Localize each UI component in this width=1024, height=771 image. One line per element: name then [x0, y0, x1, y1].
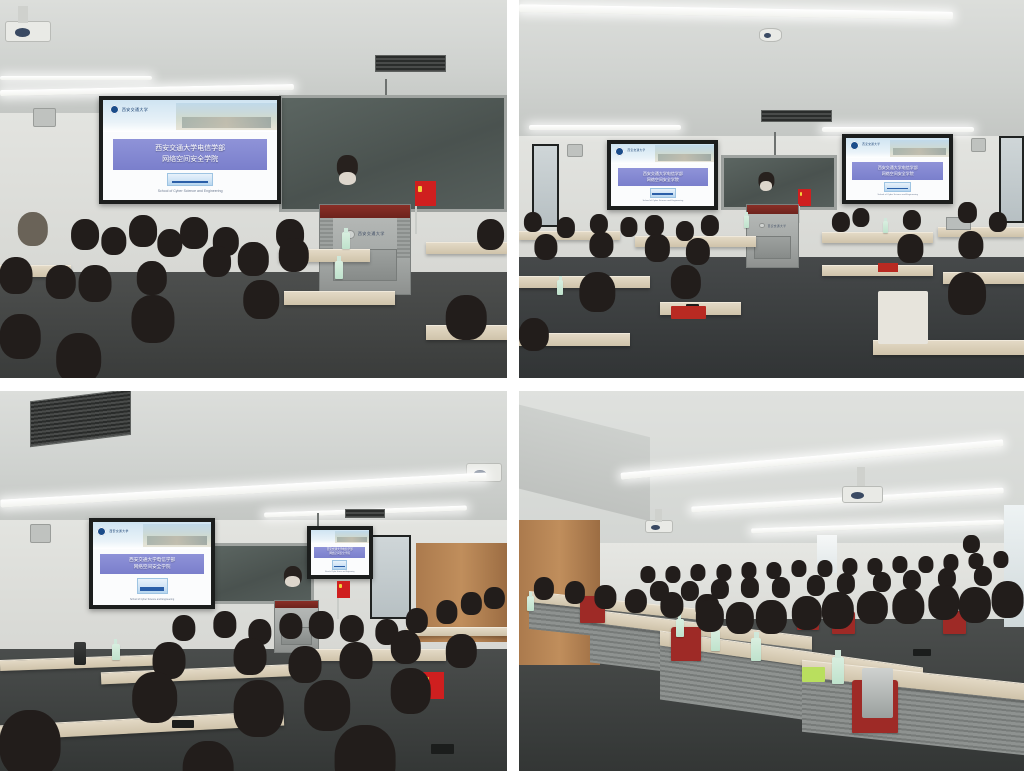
slide-footer: School of Cyber Science and Engineering: [846, 194, 949, 200]
campus-photo: [335, 531, 369, 543]
slide-footer: School of Cyber Science and Engineering: [103, 189, 278, 200]
red-folder: [878, 263, 898, 272]
chinese-flag: [798, 189, 811, 206]
photo-bottom-right: [519, 391, 1024, 771]
presentation-slide: 西安交通大学电信学部 网络空间安全学院 School of Cyber Scie…: [311, 530, 369, 575]
campus-photo: [655, 145, 715, 162]
projector-icon: [842, 486, 882, 503]
chinese-flag: [415, 181, 436, 206]
university-logo: 西安交通大学: [850, 141, 880, 150]
campus-photo: [890, 140, 950, 157]
slide-title: 西安交通大学电信学部 网络空间安全学院: [618, 168, 709, 186]
slide-footer: School of Cyber Science and Engineering: [611, 200, 714, 206]
smartphone: [913, 649, 931, 656]
presentation-slide: 西安交通大学 西安交通大学电信学部 网络空间安全学院 School of Cyb…: [611, 144, 714, 206]
red-folder: [671, 306, 706, 319]
slide-title: 西安交通大学电信学部 网络空间安全学院: [113, 139, 267, 170]
thermos-flask: [74, 642, 86, 665]
slide-cover-image: [137, 578, 168, 595]
ceiling-strip-light: [0, 76, 152, 81]
blackboard: [279, 95, 507, 212]
water-bottle: [527, 596, 534, 611]
water-bottle: [557, 280, 564, 295]
ceiling-strip-light: [529, 125, 681, 130]
slide-logo-wordmark: 西安交通大学: [109, 530, 128, 533]
water-bottle: [335, 261, 344, 279]
photo-collage: 西安交通大学 西安交通大学电信学部 网络空间安全学院 School of Cyb…: [0, 0, 1024, 771]
photo-top-right: 西安交通大学 西安交通大学电信学部 网络空间安全学院 School of Cyb…: [519, 0, 1024, 378]
projector-mount: [18, 6, 28, 23]
tote-bag: [878, 291, 929, 344]
slide-cover-image: [332, 560, 347, 570]
slide-cover-image: [650, 188, 677, 198]
thermos-flask: [862, 668, 892, 717]
ceiling-vent: [761, 110, 832, 122]
university-logo: 西安交通大学: [615, 147, 645, 156]
slide-title: 西安交通大学电信学部 网络空间安全学院: [314, 547, 365, 558]
slide-cover-image: [167, 173, 212, 186]
water-bottle: [711, 630, 720, 651]
water-bottle: [676, 619, 684, 637]
podium-crest-text: 西安交通大学: [358, 231, 385, 237]
projector-icon: [645, 520, 673, 533]
student-desk: [284, 291, 396, 305]
projection-screen: 西安交通大学 西安交通大学电信学部 网络空间安全学院 School of Cyb…: [607, 140, 718, 210]
water-bottle: [883, 221, 889, 233]
blackboard: [721, 155, 837, 210]
water-bottle: [744, 215, 750, 227]
ceiling-vent: [345, 509, 386, 518]
slide-logo-wordmark: 西安交通大学: [627, 150, 645, 153]
projector-mount: [655, 509, 662, 522]
projection-screen: 西安交通大学电信学部 网络空间安全学院 School of Cyber Scie…: [307, 526, 373, 579]
wall-speaker: [567, 144, 583, 158]
projection-screen: 西安交通大学 西安交通大学电信学部 网络空间安全学院 School of Cyb…: [842, 134, 953, 204]
water-bottle: [832, 657, 844, 684]
slide-cover-image: [884, 182, 911, 192]
chinese-flag: [337, 581, 350, 598]
university-seal-icon: [615, 147, 624, 156]
university-seal-icon: [850, 141, 859, 150]
campus-photo: [176, 103, 277, 130]
photo-top-left: 西安交通大学 西安交通大学电信学部 网络空间安全学院 School of Cyb…: [0, 0, 507, 378]
podium-crest-text: 西安交通大学: [768, 224, 787, 228]
snack-box: [802, 667, 825, 682]
projector-icon: [759, 28, 782, 41]
slide-title: 西安交通大学电信学部 网络空间安全学院: [100, 554, 205, 574]
door: [370, 535, 411, 619]
university-seal-icon: [97, 527, 106, 536]
projection-screen: 西安交通大学 西安交通大学电信学部 网络空间安全学院 School of Cyb…: [99, 96, 282, 204]
speaker-face: [760, 181, 772, 190]
slide-logo-wordmark: 西安交通大学: [862, 144, 880, 147]
presentation-slide: 西安交通大学 西安交通大学电信学部 网络空间安全学院 School of Cyb…: [846, 138, 949, 200]
campus-photo: [143, 524, 212, 547]
wall-speaker: [30, 524, 50, 543]
ceiling-vent: [375, 55, 446, 72]
projector-mount: [857, 467, 865, 486]
door: [999, 136, 1024, 223]
water-bottle: [112, 644, 120, 661]
smartphone: [431, 744, 454, 753]
student-desk: [314, 649, 446, 660]
wall-speaker: [971, 138, 986, 152]
speaker-face: [339, 172, 356, 185]
ceiling-strip-light: [822, 127, 974, 132]
photo-bottom-left: 西安交通大学 西安交通大学电信学部 网络空间安全学院 School of Cyb…: [0, 391, 507, 771]
water-bottle: [342, 232, 350, 249]
presentation-slide: 西安交通大学 西安交通大学电信学部 网络空间安全学院 School of Cyb…: [93, 522, 212, 605]
speaker-face: [285, 576, 300, 587]
university-logo: 西安交通大学: [97, 527, 128, 536]
water-bottle: [751, 638, 761, 661]
podium-crest: 西安交通大学: [755, 218, 790, 234]
projector-icon: [5, 21, 51, 42]
wall-speaker: [33, 108, 56, 127]
presentation-slide: 西安交通大学 西安交通大学电信学部 网络空间安全学院 School of Cyb…: [103, 100, 278, 200]
university-seal-icon: [110, 105, 119, 114]
slide-footer: School of Cyber Science and Engineering: [311, 572, 369, 575]
smartphone: [172, 720, 193, 728]
slide-title: 西安交通大学电信学部 网络空间安全学院: [852, 162, 943, 180]
university-logo: 西安交通大学: [110, 105, 148, 114]
slide-logo-wordmark: 西安交通大学: [122, 108, 148, 112]
slide-footer: School of Cyber Science and Engineering: [93, 598, 212, 606]
projection-screen: 西安交通大学 西安交通大学电信学部 网络空间安全学院 School of Cyb…: [89, 518, 216, 609]
university-seal-icon: [759, 223, 765, 229]
